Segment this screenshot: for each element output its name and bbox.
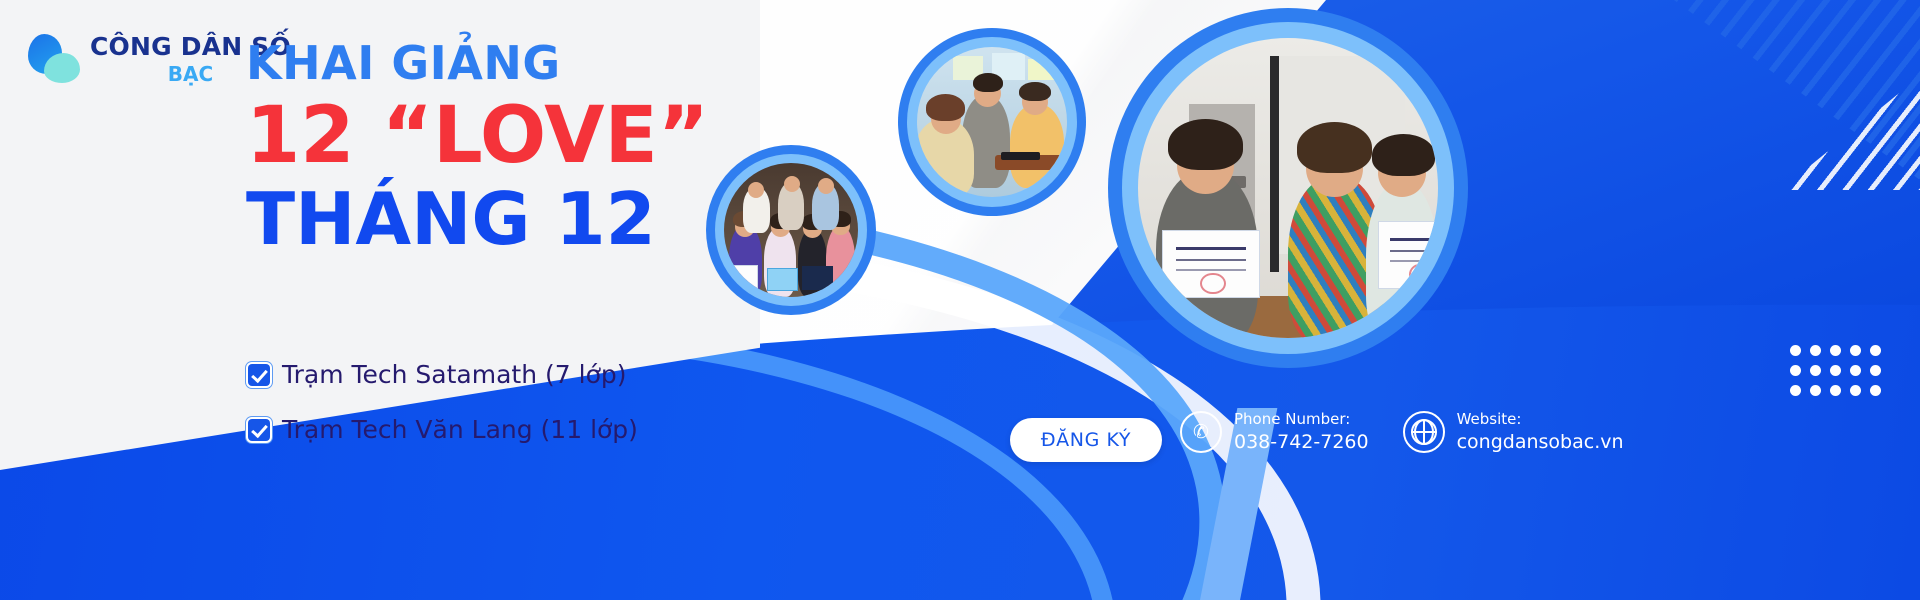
checkbox-checked-icon [248, 419, 270, 441]
globe-icon [1403, 411, 1445, 453]
website-label: Website: [1457, 410, 1624, 430]
contact-phone[interactable]: ✆ Phone Number: 038-742-7260 [1180, 410, 1369, 454]
website-value: congdansobac.vn [1457, 430, 1624, 455]
phone-label: Phone Number: [1234, 410, 1369, 430]
photo-certificate-recipients [1108, 8, 1468, 368]
phone-value: 038-742-7260 [1234, 430, 1369, 455]
register-button[interactable]: ĐĂNG KÝ [1010, 418, 1162, 462]
list-item-label: Trạm Tech Văn Lang (11 lớp) [282, 415, 638, 444]
list-item-label: Trạm Tech Satamath (7 lớp) [282, 360, 626, 389]
blob-logo-icon [28, 34, 80, 84]
contact-info: ✆ Phone Number: 038-742-7260 Website: co… [1180, 410, 1624, 454]
register-button-label: ĐĂNG KÝ [1041, 429, 1131, 451]
headline-block: KHAI GIẢNG 12 “LOVE” THÁNG 12 [246, 40, 709, 257]
photo-classroom-audience [898, 28, 1086, 216]
dot-grid-decor [1790, 345, 1890, 405]
checkbox-checked-icon [248, 364, 270, 386]
headline-line-3: THÁNG 12 [246, 182, 709, 258]
brand-sub-name: BẠC [168, 64, 213, 84]
list-item: Trạm Tech Satamath (7 lớp) [248, 360, 638, 389]
phone-icon: ✆ [1180, 411, 1222, 453]
headline-line-2: 12 “LOVE” [246, 96, 709, 178]
photo-group-award [706, 145, 876, 315]
list-item: Trạm Tech Văn Lang (11 lớp) [248, 415, 638, 444]
headline-line-1: KHAI GIẢNG [246, 40, 709, 86]
course-list: Trạm Tech Satamath (7 lớp) Trạm Tech Văn… [248, 360, 638, 444]
promo-banner: CÔNG DÂN SỐ BẠC KHAI GIẢNG 12 “LOVE” THÁ… [0, 0, 1920, 600]
contact-website[interactable]: Website: congdansobac.vn [1403, 410, 1624, 454]
